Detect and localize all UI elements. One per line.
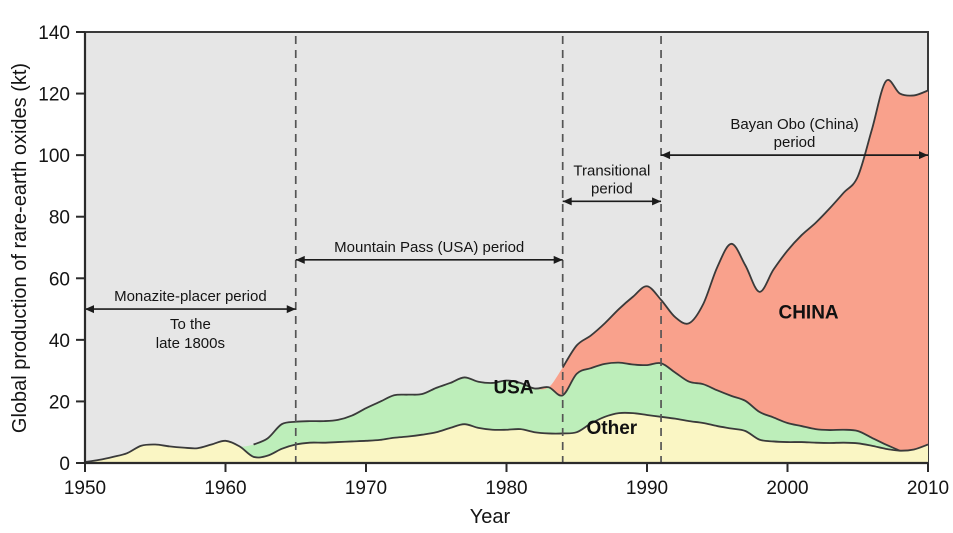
- y-tick-label-100: 100: [38, 146, 70, 167]
- x-tick-label-1980: 1980: [485, 478, 527, 499]
- rare-earth-production-area-chart: Monazite-placer periodTo thelate 1800sMo…: [0, 0, 953, 533]
- x-tick-label-1970: 1970: [345, 478, 387, 499]
- y-tick-label-60: 60: [49, 269, 70, 290]
- y-tick-label-120: 120: [38, 85, 70, 106]
- y-axis-title: Global production of rare-earth oxides (…: [9, 63, 31, 433]
- region-label-usa: USA: [493, 378, 533, 399]
- annotation-sublabel-line1: To the: [170, 316, 211, 333]
- annotation-label-line2: period: [591, 180, 633, 197]
- annotation-label: Mountain Pass (USA) period: [334, 239, 524, 256]
- x-tick-label-1950: 1950: [64, 478, 106, 499]
- region-label-other: Other: [587, 418, 638, 439]
- chart-container: Monazite-placer periodTo thelate 1800sMo…: [0, 0, 953, 533]
- y-tick-label-20: 20: [49, 392, 70, 413]
- x-axis-title: Year: [470, 506, 511, 528]
- y-tick-label-140: 140: [38, 23, 70, 44]
- y-tick-label-80: 80: [49, 208, 70, 229]
- annotation-label-line1: Transitional: [573, 162, 650, 179]
- annotation-sublabel-line2: late 1800s: [156, 335, 225, 352]
- annotation-label-line2: period: [774, 134, 816, 151]
- x-tick-label-2010: 2010: [907, 478, 949, 499]
- region-label-china: CHINA: [778, 302, 838, 323]
- annotation-mountain-pass-period: Mountain Pass (USA) period: [296, 239, 563, 264]
- y-tick-label-0: 0: [59, 454, 70, 475]
- x-tick-label-1960: 1960: [204, 478, 246, 499]
- x-tick-label-2000: 2000: [766, 478, 808, 499]
- annotation-label: Monazite-placer period: [114, 288, 267, 305]
- y-tick-label-40: 40: [49, 331, 70, 352]
- x-tick-label-1990: 1990: [626, 478, 668, 499]
- annotation-label-line1: Bayan Obo (China): [730, 116, 858, 133]
